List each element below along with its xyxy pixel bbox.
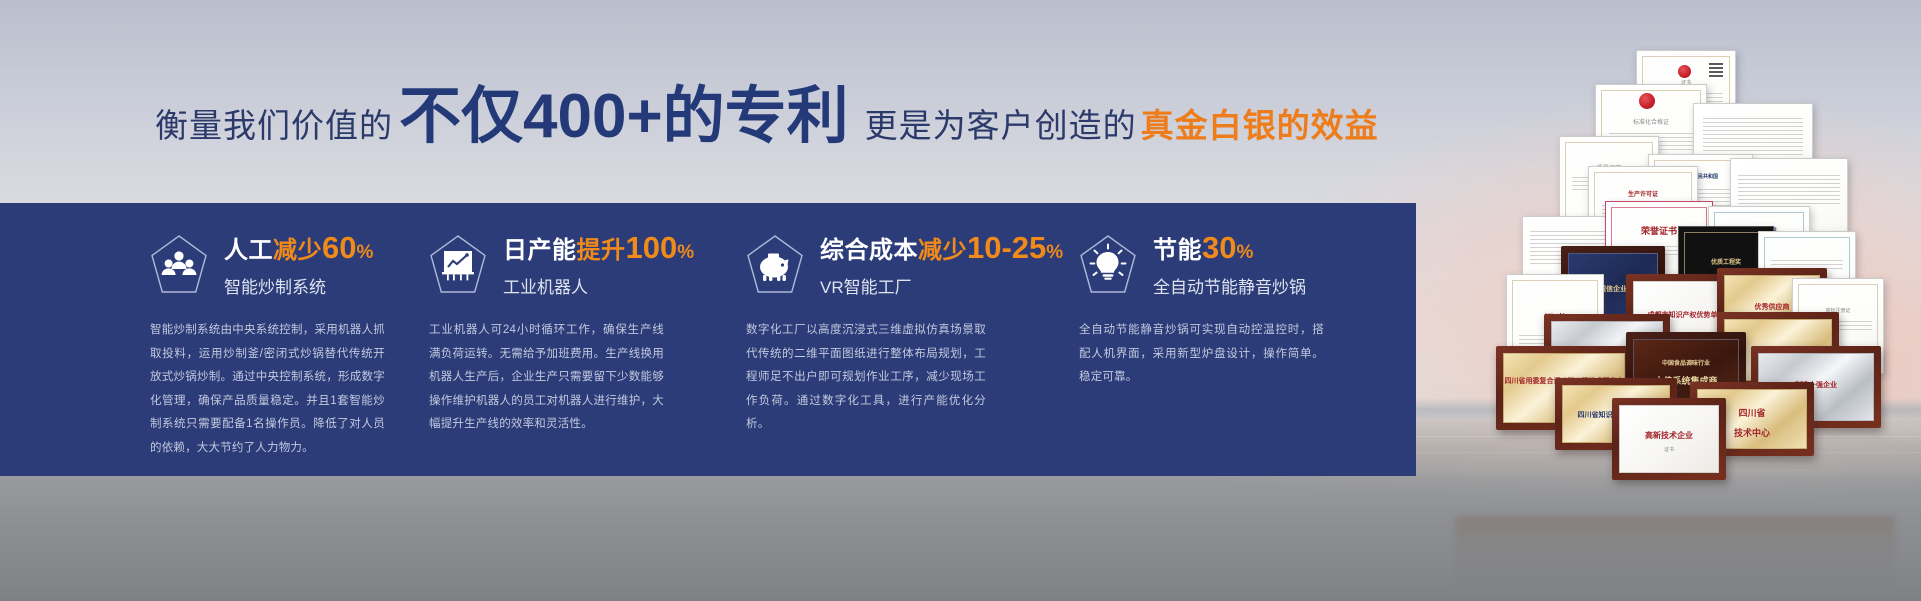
headline-lead: 衡量我们价值的 <box>155 99 393 147</box>
chart-board-icon <box>429 234 487 294</box>
promo-banner: 衡量我们价值的 不仅400+的专利 更是为客户创造的 真金白银的效益 <box>0 0 1921 601</box>
people-group-icon <box>150 234 208 294</box>
feature-title: 综合成本减少10-25% <box>820 230 1064 266</box>
feature-titles: 综合成本减少10-25% VR智能工厂 <box>820 230 1064 298</box>
feature-subtitle: 全自动节能静音炒锅 <box>1153 273 1306 298</box>
feature-list: 人工减少60% 智能炒制系统 智能炒制系统由中央系统控制，采用机器人抓取投料，运… <box>0 203 1416 476</box>
feature-subtitle: VR智能工厂 <box>820 273 1064 298</box>
feature-title: 日产能提升100% <box>503 230 695 266</box>
feature-body: 智能炒制系统由中央系统控制，采用机器人抓取投料，运用炒制釜/密闭式炒锅替代传统开… <box>150 319 385 460</box>
feature-body: 工业机器人可24小时循环工作，确保生产线满负荷运转。无需给予加班费用。生产线换用… <box>429 319 664 437</box>
feature-titles: 人工减少60% 智能炒制系统 <box>224 230 374 298</box>
feature-header: 日产能提升100% 工业机器人 <box>429 231 734 297</box>
lightbulb-icon <box>1079 234 1137 294</box>
feature-item-energy: 节能30% 全自动节能静音炒锅 全自动节能静音炒锅可实现自动控温控时，搭配人机界… <box>1069 203 1399 476</box>
feature-title: 人工减少60% <box>224 230 374 266</box>
feature-header: 节能30% 全自动节能静音炒锅 <box>1079 231 1399 297</box>
headline-highlight: 真金白银的效益 <box>1141 99 1379 147</box>
feature-subtitle: 工业机器人 <box>503 273 695 298</box>
feature-item-cost: 综合成本减少10-25% VR智能工厂 数字化工厂以高度沉浸式三维虚拟仿真场景取… <box>734 203 1069 476</box>
feature-title: 节能30% <box>1153 230 1306 266</box>
certificate-stack: 证书 标准化合格证 质量证书 中华人民共和国 生产许可证 <box>1440 46 1910 516</box>
feature-item-labor: 人工减少60% 智能炒制系统 智能炒制系统由中央系统控制，采用机器人抓取投料，运… <box>0 203 404 476</box>
feature-body: 数字化工厂以高度沉浸式三维虚拟仿真场景取代传统的二维平面图纸进行整体布局规划，工… <box>746 319 986 437</box>
plaque-white: 高新技术企业 证书 <box>1612 398 1726 480</box>
feature-header: 人工减少60% 智能炒制系统 <box>150 231 404 297</box>
feature-header: 综合成本减少10-25% VR智能工厂 <box>746 231 1069 297</box>
feature-subtitle: 智能炒制系统 <box>224 273 374 298</box>
feature-body: 全自动节能静音炒锅可实现自动控温控时，搭配人机界面，采用新型炉盘设计，操作简单。… <box>1079 319 1324 390</box>
page-title: 衡量我们价值的 不仅400+的专利 更是为客户创造的 真金白银的效益 <box>155 86 1379 148</box>
headline-emphasis: 不仅400+的专利 <box>399 86 849 148</box>
feature-item-capacity: 日产能提升100% 工业机器人 工业机器人可24小时循环工作，确保生产线满负荷运… <box>404 203 734 476</box>
piggy-bank-icon <box>746 234 804 294</box>
feature-titles: 日产能提升100% 工业机器人 <box>503 230 695 298</box>
feature-panel: 人工减少60% 智能炒制系统 智能炒制系统由中央系统控制，采用机器人抓取投料，运… <box>0 203 1416 476</box>
feature-titles: 节能30% 全自动节能静音炒锅 <box>1153 230 1306 298</box>
certificate-reflection <box>1455 516 1895 586</box>
headline-middle: 更是为客户创造的 <box>865 99 1137 147</box>
